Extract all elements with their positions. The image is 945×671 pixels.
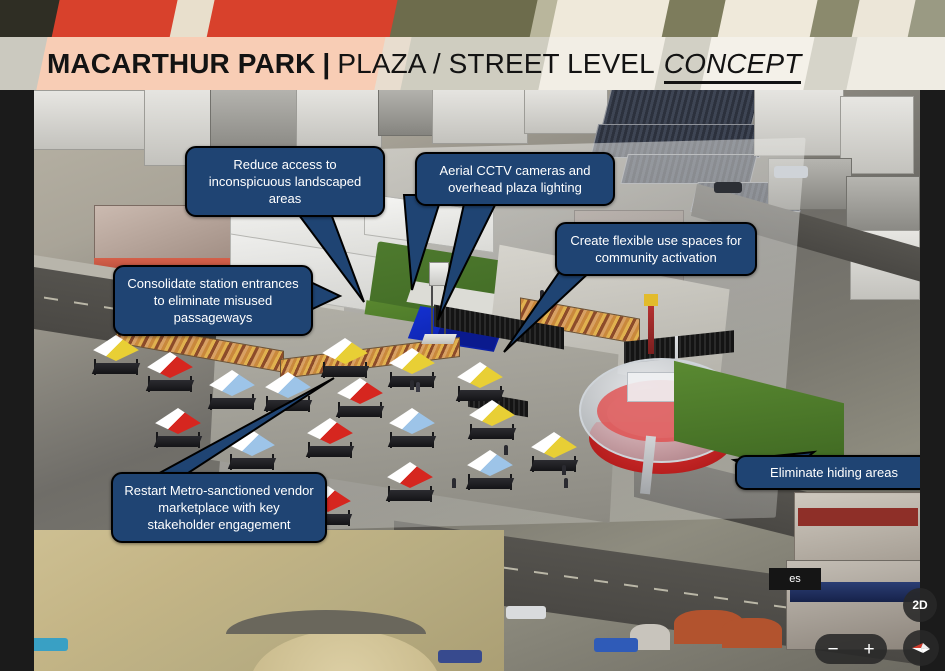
pedestrian	[416, 382, 420, 392]
tent-canopy	[304, 418, 356, 444]
tent-canopy	[528, 432, 580, 458]
vendor-table	[264, 400, 312, 411]
tent-canopy	[464, 450, 516, 476]
tent-canopy	[262, 372, 314, 398]
vendor-table	[228, 458, 276, 469]
vendor-tent	[464, 450, 516, 492]
building	[296, 90, 382, 148]
vendor-table	[208, 398, 256, 409]
header-stripe-red	[191, 0, 404, 37]
tent-canopy	[384, 462, 436, 488]
vendor-tent	[319, 338, 371, 380]
vendor-tent	[454, 362, 506, 404]
plaza-pylon-top	[644, 294, 658, 306]
vendor-tent	[144, 352, 196, 394]
vendor-tent	[90, 335, 142, 377]
tent-canopy	[454, 362, 506, 388]
tent-canopy	[386, 348, 438, 374]
pedestrian	[410, 380, 414, 390]
vendor-tent	[206, 370, 258, 412]
callout-consolidate-entrances[interactable]: Consolidate station entrances to elimina…	[113, 265, 313, 336]
callout-eliminate-hiding[interactable]: Eliminate hiding areas	[735, 455, 933, 490]
vendor-table	[530, 460, 578, 471]
vehicle	[714, 182, 742, 193]
vendor-tent	[304, 418, 356, 460]
tent-canopy	[319, 338, 371, 364]
header-stripe-cream	[534, 0, 677, 37]
vehicle	[506, 606, 546, 619]
callout-cctv-lighting[interactable]: Aerial CCTV cameras and overhead plaza l…	[415, 152, 615, 206]
vendor-table	[466, 478, 514, 489]
tent-canopy	[334, 378, 386, 404]
vehicle	[774, 166, 808, 178]
title-separator: |	[315, 48, 337, 79]
park-landscape	[34, 530, 504, 671]
plaza-light-mast	[427, 262, 451, 340]
vendor-tent	[262, 372, 314, 414]
plaza-pylon	[648, 302, 654, 354]
building	[378, 90, 436, 136]
compass-control[interactable]	[903, 630, 939, 666]
vendor-tent	[226, 430, 278, 472]
vendor-tent	[384, 462, 436, 504]
vehicle	[594, 638, 638, 652]
vendor-table	[386, 490, 434, 501]
mast-base	[421, 334, 457, 344]
page-title: MACARTHUR PARK|PLAZA / STREET LEVELCONCE…	[0, 50, 801, 78]
mast-pole	[431, 286, 433, 336]
header-stripe-olive	[374, 0, 547, 37]
tent-canopy	[386, 408, 438, 434]
left-letterbox	[0, 90, 34, 671]
right-letterbox	[920, 90, 945, 671]
tent-canopy	[152, 408, 204, 434]
vendor-table	[321, 366, 369, 377]
mast-pole	[444, 286, 446, 336]
vendor-tent	[528, 432, 580, 474]
title-italic-part: CONCEPT	[664, 48, 802, 84]
callout-flexible-use[interactable]: Create flexible use spaces for community…	[555, 222, 757, 276]
building	[432, 90, 528, 144]
cctv-camera-housing	[429, 262, 449, 286]
pedestrian	[540, 290, 544, 300]
vendor-tent	[466, 400, 518, 442]
presentation-slide: MACARTHUR PARK|PLAZA / STREET LEVELCONCE…	[0, 0, 945, 671]
callout-reduce-access[interactable]: Reduce access to inconspicuous landscape…	[185, 146, 385, 217]
tent-canopy	[144, 352, 196, 378]
header-photo-band	[0, 0, 945, 37]
vendor-table	[388, 436, 436, 447]
view-mode-2d-button[interactable]: 2D	[903, 588, 937, 622]
pedestrian	[546, 292, 550, 302]
vendor-tent	[334, 378, 386, 420]
zoom-controls[interactable]: − +	[815, 634, 887, 664]
pedestrian	[564, 478, 568, 488]
callout-vendor-marketplace[interactable]: Restart Metro-sanctioned vendor marketpl…	[111, 472, 327, 543]
tent-canopy	[226, 430, 278, 456]
vendor-table	[146, 380, 194, 391]
building	[34, 90, 149, 150]
vehicle	[34, 638, 68, 651]
awning	[722, 618, 782, 648]
pedestrian	[562, 465, 566, 475]
tent-canopy	[90, 335, 142, 361]
building	[524, 90, 608, 134]
slide-title-band: MACARTHUR PARK|PLAZA / STREET LEVELCONCE…	[0, 37, 945, 90]
awning	[798, 508, 918, 526]
pedestrian	[504, 445, 508, 455]
vendor-table	[154, 436, 202, 447]
vendor-table	[468, 428, 516, 439]
zoom-in-button[interactable]: +	[863, 640, 874, 659]
pedestrian	[452, 478, 456, 488]
partial-label-chip: es	[769, 568, 821, 590]
tent-canopy	[466, 400, 518, 426]
vendor-tent	[386, 408, 438, 450]
title-bold-part: MACARTHUR PARK	[47, 48, 315, 79]
vehicle	[438, 650, 482, 663]
compass-needle-icon	[909, 636, 933, 660]
title-regular-part: PLAZA / STREET LEVEL	[337, 48, 654, 79]
tent-canopy	[206, 370, 258, 396]
vendor-tent	[152, 408, 204, 450]
header-stripe-red	[36, 0, 184, 37]
vendor-table	[306, 446, 354, 457]
vendor-table	[336, 406, 384, 417]
vendor-table	[92, 363, 140, 374]
zoom-out-button[interactable]: −	[827, 640, 838, 659]
